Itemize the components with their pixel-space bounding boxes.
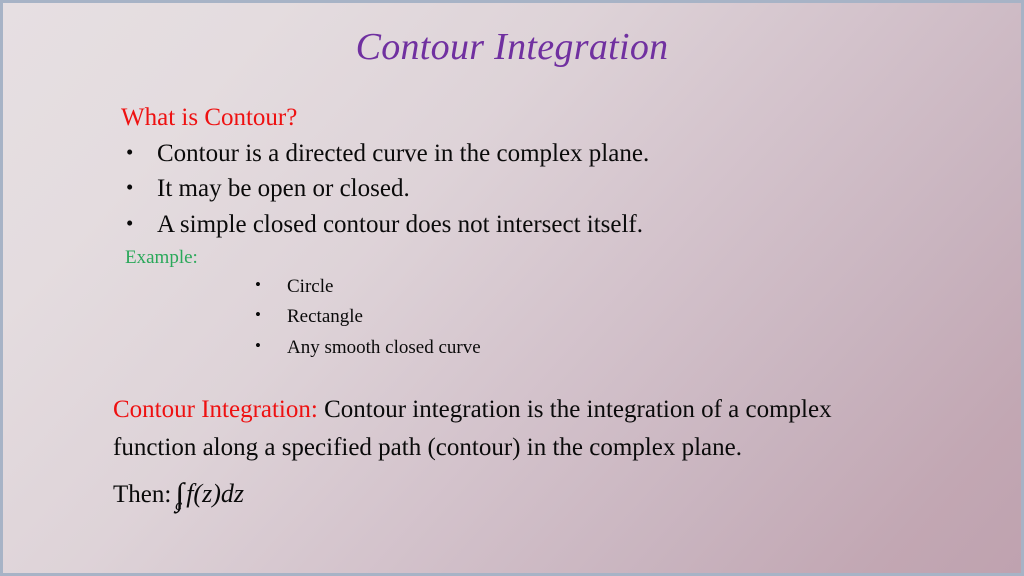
list-item: Any smooth closed curve	[251, 333, 1021, 364]
list-item: It may be open or closed.	[121, 171, 1021, 207]
integral-expression: f(z)dz	[186, 479, 244, 508]
slide: Contour Integration What is Contour? Con…	[0, 0, 1024, 576]
term-label: Contour Integration:	[113, 396, 318, 423]
page-title: Contour Integration	[3, 28, 1021, 68]
list-item: Circle	[251, 272, 1021, 303]
example-list: Circle Rectangle Any smooth closed curve	[121, 272, 1021, 364]
contour-bullet-list: Contour is a directed curve in the compl…	[121, 136, 1021, 243]
integral-subscript: c	[175, 494, 182, 518]
list-item: Rectangle	[251, 302, 1021, 333]
contour-integration-section: Contour Integration: Contour integration…	[113, 391, 933, 516]
section-heading-what-is-contour: What is Contour?	[121, 103, 1021, 134]
contour-definition-section: What is Contour? Contour is a directed c…	[3, 103, 1021, 364]
list-item: A simple closed contour does not interse…	[121, 207, 1021, 243]
example-label: Example:	[125, 246, 1021, 271]
contour-integral-formula: ∫cf(z)dz	[175, 467, 249, 516]
contour-integration-definition: Contour Integration: Contour integration…	[113, 391, 903, 467]
list-item: Contour is a directed curve in the compl…	[121, 136, 1021, 172]
slide-content: What is Contour? Contour is a directed c…	[3, 103, 1021, 364]
formula-line: Then:∫cf(z)dz	[113, 467, 933, 516]
then-label: Then:	[113, 481, 171, 508]
